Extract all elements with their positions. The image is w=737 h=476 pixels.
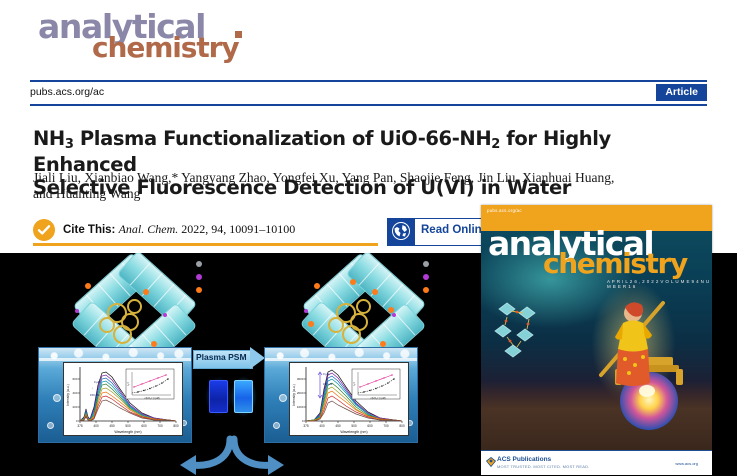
svg-text:700: 700	[383, 424, 389, 428]
svg-text:600: 600	[367, 424, 373, 428]
svg-text:c(UO₂²⁺) (μM): c(UO₂²⁺) (μM)	[145, 397, 160, 400]
title-nh3-prefix: NH	[33, 127, 65, 150]
acs-website-label: www.acs.org	[675, 461, 698, 466]
legend-dot-uranyl	[196, 287, 202, 293]
header-rule-top	[30, 80, 707, 82]
svg-text:1000: 1000	[297, 405, 304, 409]
svg-text:800: 800	[173, 424, 179, 428]
acs-publications-label: ACS Publications	[497, 456, 551, 463]
title-sub-2: 2	[491, 137, 500, 152]
authors-part1: Jiali Liu, Xianbiao Wang,	[33, 170, 172, 185]
cover-url-text: pubs.acs.org/ac	[487, 208, 522, 213]
svg-text:600: 600	[141, 424, 147, 428]
svg-text:c(UO₂²⁺) (μM): c(UO₂²⁺) (μM)	[371, 397, 386, 400]
cite-this-text: Cite This: Anal. Chem. 2022, 94, 10091–1…	[63, 222, 295, 237]
svg-text:150 μM: 150 μM	[323, 382, 333, 386]
cover-diver-figure	[599, 297, 665, 392]
authors-part2: Yangyang Zhao, Yongfei Xu, Yang Pan, Sha…	[178, 170, 614, 185]
svg-text:Intensity (a.u.): Intensity (a.u.)	[292, 384, 296, 405]
header-rule-bottom	[30, 104, 707, 106]
svg-text:Intensity (a.u.): Intensity (a.u.)	[66, 384, 70, 405]
read-online-icon-box	[387, 218, 415, 245]
svg-text:Wavelength (nm): Wavelength (nm)	[340, 430, 367, 434]
svg-text:400: 400	[93, 424, 99, 428]
cite-citation: 2022, 94, 10091–10100	[178, 222, 295, 236]
author-list: Jiali Liu, Xianbiao Wang,* Yangyang Zhao…	[33, 170, 713, 202]
running-head: pubs.acs.org/ac Article	[30, 84, 707, 103]
svg-text:0 μM: 0 μM	[323, 372, 330, 376]
svg-text:375: 375	[303, 424, 309, 428]
check-circle-icon	[33, 219, 55, 241]
cite-this-bar[interactable]: Cite This: Anal. Chem. 2022, 94, 10091–1…	[33, 218, 378, 244]
emission-spectra-plot-left: 375400450 500600700 800 0200 400600 Wave…	[63, 362, 183, 436]
read-online-button[interactable]: Read Online	[387, 218, 496, 246]
svg-text:I₀/I: I₀/I	[353, 382, 356, 385]
svg-text:450: 450	[335, 424, 341, 428]
title-sub-3: 3	[65, 137, 74, 152]
plasma-psm-label: Plasma PSM	[196, 352, 247, 362]
svg-text:200: 200	[72, 405, 77, 409]
emission-spectra-plot-right: 375400450 500600700 800 01000 20003000 W…	[289, 362, 409, 436]
curved-arrow-right	[226, 435, 292, 475]
cite-underline	[33, 243, 378, 246]
journal-masthead-logo: analytical chemistry	[38, 8, 298, 70]
cuvette-before	[209, 380, 228, 413]
svg-text:150 μM: 150 μM	[90, 393, 100, 397]
authors-line2: and Huanting Wang	[33, 186, 140, 201]
cover-issue-info: A P R I L 2 6 , 2 0 2 2 V O L U M E 9 4 …	[607, 279, 712, 289]
journal-cover-image: pubs.acs.org/ac analytical chemistry A P…	[481, 205, 712, 475]
water-surface-line-left	[39, 358, 191, 361]
cite-journal-abbrev: Anal. Chem.	[119, 222, 179, 236]
fluorescence-chart-panel-left: 375400450 500600700 800 0200 400600 Wave…	[38, 347, 192, 443]
cover-title-chemistry: chemistry	[543, 250, 687, 278]
svg-text:700: 700	[157, 424, 163, 428]
acs-publications-logo-icon	[486, 457, 496, 467]
plasma-psm-arrow: Plasma PSM	[193, 350, 265, 367]
legend-dot-nitrogen	[196, 274, 202, 280]
cuvette-after	[234, 380, 253, 413]
emission-spectra-svg-left: 375400450 500600700 800 0200 400600 Wave…	[64, 363, 182, 435]
fluorescence-chart-panel-right: 375400450 500600700 800 01000 20003000 W…	[264, 347, 418, 443]
globe-icon	[392, 222, 410, 240]
svg-text:600: 600	[72, 377, 77, 381]
svg-text:375: 375	[77, 424, 83, 428]
article-type-badge: Article	[656, 84, 707, 101]
svg-text:800: 800	[399, 424, 405, 428]
psm-arrow-head	[250, 347, 265, 369]
title-mid: Plasma Functionalization of UiO-66-NH	[74, 127, 492, 150]
svg-text:400: 400	[72, 391, 77, 395]
svg-text:2000: 2000	[297, 391, 304, 395]
svg-text:I₀/I: I₀/I	[127, 382, 130, 385]
masthead-dot	[235, 31, 242, 38]
article-first-page: analytical chemistry pubs.acs.org/ac Art…	[0, 0, 737, 476]
svg-text:500: 500	[125, 424, 131, 428]
svg-text:Wavelength (nm): Wavelength (nm)	[114, 430, 141, 434]
legend-dot-zirconium	[196, 261, 202, 267]
svg-text:3000: 3000	[297, 377, 304, 381]
cuvette-after-body	[234, 380, 253, 413]
journal-url-link[interactable]: pubs.acs.org/ac	[30, 86, 104, 98]
svg-text:0 μM: 0 μM	[94, 380, 101, 384]
acs-publications-tagline: MOST TRUSTED. MOST CITED. MOST READ.	[497, 464, 589, 469]
read-online-label: Read Online	[421, 224, 488, 236]
svg-text:400: 400	[319, 424, 325, 428]
cite-label: Cite This:	[63, 224, 115, 236]
emission-spectra-svg-right: 375400450 500600700 800 01000 20003000 W…	[290, 363, 408, 435]
svg-text:500: 500	[351, 424, 357, 428]
masthead-chemistry-text: chemistry	[92, 34, 239, 62]
cuvette-before-body	[209, 380, 228, 413]
water-surface-line-right	[265, 358, 417, 361]
cover-mof-crystal-icon	[493, 297, 545, 359]
cover-footer: ACS Publications MOST TRUSTED. MOST CITE…	[481, 451, 712, 475]
svg-text:450: 450	[109, 424, 115, 428]
